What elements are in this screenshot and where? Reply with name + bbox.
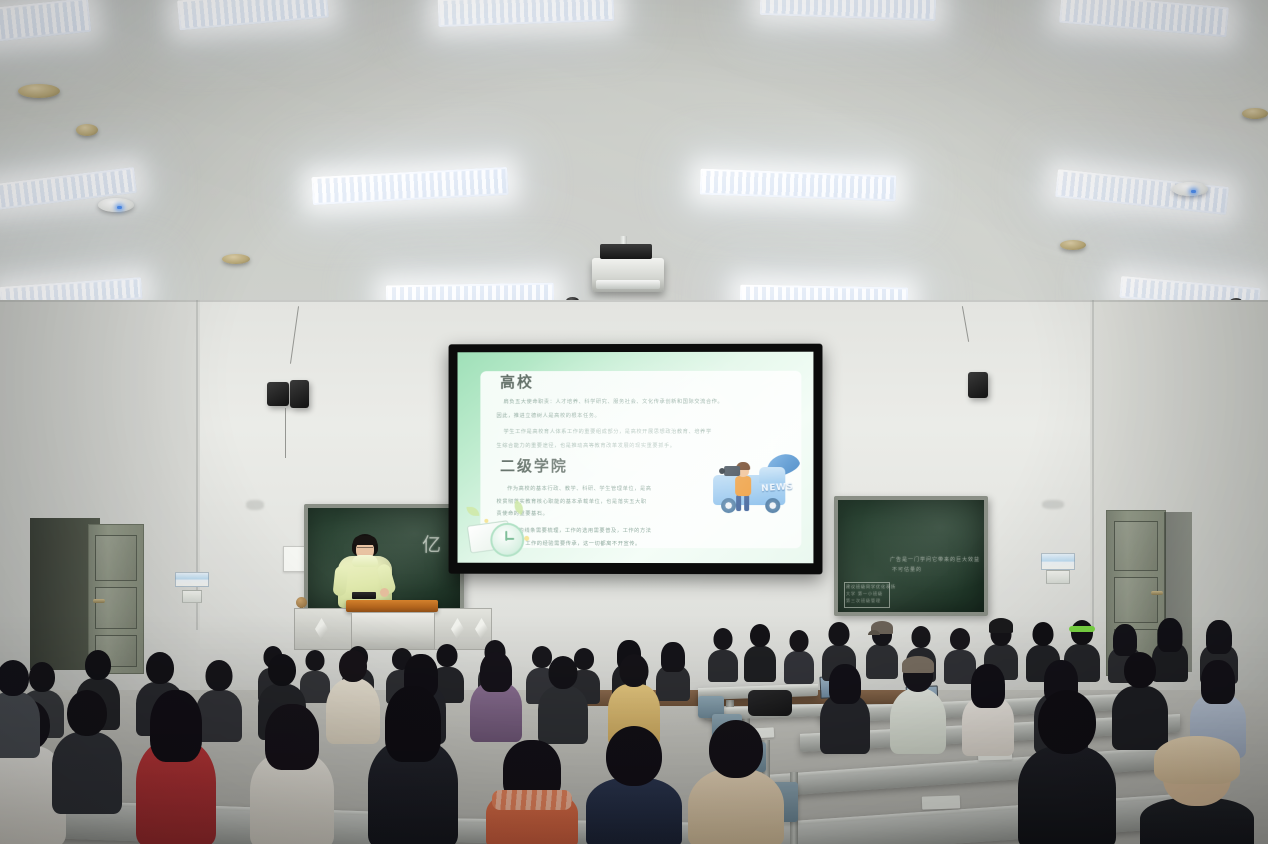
van-wheel	[721, 498, 736, 513]
chalkboard-corner-note-1: 建议班级同学优化表扬	[846, 584, 896, 590]
audience-member	[250, 704, 334, 844]
chalkboard-corner-note-3: 第三次班级管理	[846, 598, 881, 604]
person-hair	[1158, 618, 1183, 652]
reporter-body	[735, 476, 751, 496]
audience-member	[1018, 690, 1116, 844]
presentation-slide: 高校 肩负五大使命职责：人才培养、科学研究、服务社会、文化传承创新和国际交流合作…	[458, 352, 814, 564]
audience-member	[538, 656, 588, 742]
audience-member	[52, 690, 122, 810]
bucket-hat-icon	[1154, 736, 1240, 784]
lecture-hall-photo: 亿 广告是一门学问它带来的巨大效益 不可估量的 建议班级同学优化表扬 大学 第一…	[0, 0, 1268, 844]
chalkboard-right-line-2: 不可估量的	[892, 566, 922, 573]
audience-member	[744, 624, 776, 680]
leaf-icon	[466, 507, 479, 516]
person-head	[206, 660, 233, 691]
wall-seam	[0, 300, 1268, 302]
person-head	[950, 628, 970, 650]
audience-member-purple	[470, 652, 522, 740]
person-hoodie	[890, 688, 946, 754]
person-head	[912, 626, 931, 648]
wall-speaker-icon	[267, 382, 289, 406]
audience-member-tan	[688, 720, 784, 844]
person-hair	[1206, 620, 1232, 654]
person-head	[67, 690, 107, 736]
chalkboard-left-writing: 亿	[422, 530, 442, 557]
person-head	[0, 660, 29, 696]
podium-front-panel	[351, 612, 435, 650]
audience-member	[708, 628, 738, 680]
person-torso	[744, 646, 776, 682]
audience-member	[656, 642, 690, 700]
video-camera-icon	[724, 466, 740, 476]
person-hair	[480, 652, 512, 692]
chalkboard-right: 广告是一门学问它带来的巨大效益 不可估量的 建议班级同学优化表扬 大学 第一小班…	[834, 496, 988, 616]
audience-member-light-jacket	[890, 658, 946, 752]
person-hoodie	[688, 768, 784, 844]
person-hair	[150, 690, 202, 762]
clock-hand	[505, 538, 514, 540]
cap-brim	[868, 630, 880, 635]
person-head	[268, 654, 296, 686]
audience-member	[1112, 652, 1168, 748]
decorative-dot	[484, 519, 488, 523]
wall-seam	[1092, 300, 1094, 630]
ceiling-projector	[592, 258, 664, 292]
podium-desktop	[346, 600, 438, 612]
projection-screen-surface: 高校 肩负五大使命职责：人才培养、科学研究、服务社会、文化传承创新和国际交流合作…	[458, 352, 814, 564]
presenter-hair-fringe	[353, 536, 377, 545]
door-panel	[95, 535, 137, 581]
audience-member-cream-hat	[1140, 740, 1254, 844]
decorative-dot	[524, 536, 529, 541]
chalkboard-right-line-1: 广告是一门学问它带来的巨大效益	[890, 556, 980, 563]
news-van-illustration: NEWS	[711, 455, 799, 517]
person-head	[306, 650, 325, 671]
slide-paragraph-1: 肩负五大使命职责：人才培养、科学研究、服务社会、文化传承创新和国际交流合作。	[504, 398, 782, 406]
speaker-cable	[285, 408, 286, 458]
audience-member-orange-scarf	[486, 740, 578, 844]
clock-icon	[490, 523, 524, 557]
person-head	[790, 630, 809, 652]
backpack	[748, 690, 792, 716]
person-torso	[1018, 746, 1116, 844]
van-wheel	[765, 498, 780, 513]
person-head	[146, 652, 174, 684]
scarf	[492, 790, 572, 810]
reporter-leg	[736, 495, 741, 511]
presenter-glasses	[357, 547, 373, 552]
person-head	[1124, 652, 1156, 688]
beanie-icon	[902, 656, 934, 673]
audience-member	[368, 686, 458, 844]
person-torso	[0, 692, 40, 758]
slide-paragraph-2: 学生工作是高校育人体系工作的重要组成部分，是高校开展思想政治教育、培养学	[504, 428, 789, 436]
person-head	[549, 656, 578, 689]
wifi-access-point-icon	[1172, 182, 1208, 196]
person-head	[1033, 622, 1054, 646]
smoke-detector-icon	[76, 124, 98, 136]
slide-paragraph-2b: 生综合能力的重要途径，也是推动高等教育改革发展的现实重要抓手。	[496, 442, 781, 450]
slide-heading-1: 高校	[500, 371, 534, 392]
van-news-label: NEWS	[761, 482, 794, 494]
person-torso	[784, 651, 814, 684]
wall-sign-left	[175, 572, 209, 587]
wall-sign-right-small	[1046, 570, 1070, 584]
person-head	[714, 628, 733, 650]
slide-paragraph-4: 工作的线条需要梳理，工作的选用需要普及，工作的方法	[507, 527, 742, 535]
reporter-leg	[744, 495, 749, 511]
wall-speaker-icon	[968, 372, 988, 398]
van-cab	[759, 467, 785, 483]
smoke-detector-icon	[18, 84, 60, 98]
wall-notice-paper	[283, 546, 305, 572]
wall-scuff	[1042, 500, 1064, 509]
person-head	[829, 622, 850, 646]
person-hair	[385, 686, 441, 762]
door-handle[interactable]	[1151, 591, 1163, 595]
chalkboard-corner-note-2: 大学 第一小班级	[846, 591, 883, 597]
person-head	[750, 624, 770, 647]
podium-side-panel-left	[294, 608, 352, 650]
audience-member	[784, 630, 814, 682]
beanie-icon	[989, 618, 1013, 633]
door-handle[interactable]	[93, 599, 105, 603]
audience-member-red	[136, 690, 216, 844]
wall-speaker-icon	[290, 380, 309, 408]
person-torso	[52, 732, 122, 814]
podium	[346, 600, 438, 648]
audience-member-navy	[586, 726, 682, 844]
person-hair	[829, 664, 861, 704]
presenter-hand	[380, 588, 389, 597]
person-head	[709, 720, 763, 778]
slide-corner-doodle	[468, 505, 538, 557]
person-hair	[1201, 660, 1235, 704]
person-torso	[708, 650, 738, 682]
wifi-access-point-icon	[98, 198, 134, 212]
smoke-detector-icon	[222, 254, 250, 264]
door-panel	[1114, 577, 1158, 623]
door-panel	[1114, 521, 1158, 571]
slide-paragraph-1b: 因此，推进立德树人是高校的根本任务。	[496, 412, 774, 420]
presenter-collar	[352, 555, 378, 567]
person-head	[1071, 620, 1093, 645]
podium-diamond-ornament	[475, 618, 488, 640]
podium-diamond-ornament	[451, 618, 464, 640]
person-head	[606, 726, 662, 786]
wall-sign-right	[1041, 553, 1075, 570]
podium-laptop	[352, 592, 376, 599]
person-head	[85, 650, 111, 680]
person-head	[1038, 690, 1096, 754]
person-hair	[265, 704, 319, 770]
door-panel	[95, 587, 137, 629]
podium-diamond-ornament	[315, 618, 328, 640]
person-hair	[661, 642, 685, 672]
audience-member	[820, 664, 870, 752]
smoke-detector-icon	[1242, 108, 1268, 119]
smoke-detector-icon	[1060, 240, 1086, 250]
projection-screen: 高校 肩负五大使命职责：人才培养、科学研究、服务社会、文化传承创新和国际交流合作…	[449, 344, 823, 575]
person-torso	[586, 778, 682, 844]
wall-sign-left-small	[182, 590, 202, 603]
person-head	[620, 654, 649, 687]
audience-member	[0, 660, 40, 756]
wall-scuff	[246, 500, 264, 510]
person-torso	[538, 686, 588, 744]
audience-member	[962, 664, 1014, 754]
paper-sheet	[922, 795, 960, 809]
slide-heading-2: 二级学院	[500, 455, 568, 476]
person-hair	[971, 664, 1005, 708]
slide-paragraph-3: 作为高校的基本行政、教学、科研、学生管理单位，是高	[507, 485, 720, 493]
headphones-icon	[1069, 626, 1095, 632]
person-head	[339, 650, 367, 682]
